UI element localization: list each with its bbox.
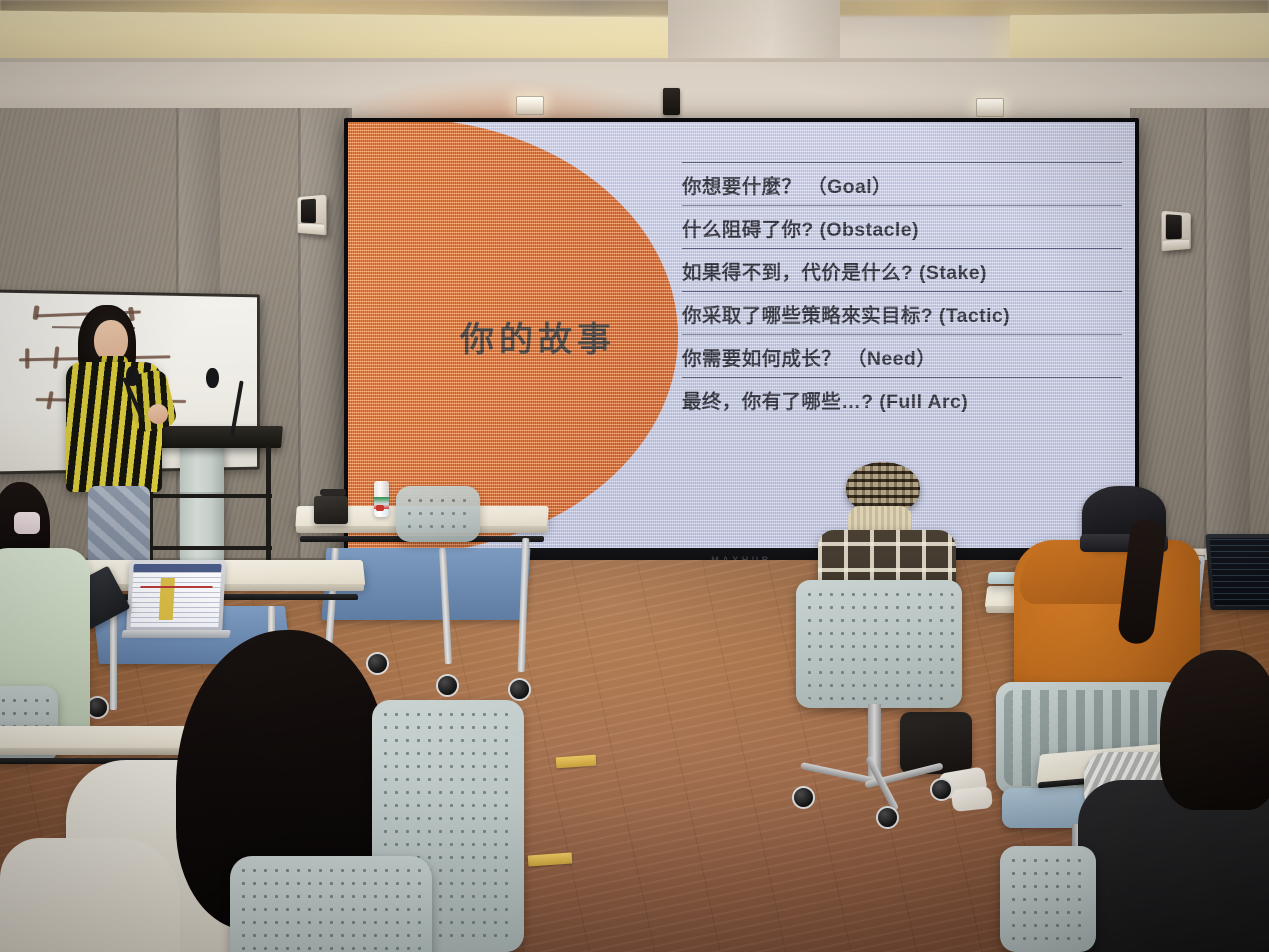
document-camera[interactable] [314,496,348,524]
chair-caster [876,806,899,829]
whiteboard-writing [33,305,40,320]
slide-bullet-text: 什么阻碍了你? (Obstacle) [682,213,1122,242]
downlight-right [976,98,1004,117]
table-small-object [376,505,384,511]
slide-bullet-row: 你需要如何成长？ （Need） [682,334,1122,377]
face-mask [14,512,40,534]
slide-bullet-text: 最终，你有了哪些…? (Full Arc) [682,385,1122,414]
chair-backrest [396,486,480,542]
podium-microphone-head-icon [206,368,219,388]
podium-crossbar [148,494,272,498]
presenter-legs [88,486,150,570]
soffit-orange-reflection [330,78,670,122]
speaker-base [298,223,324,235]
table-caster [366,652,389,675]
chair-mesh [404,494,472,534]
slide-bullet-text: 你采取了哪些策略來实目标? (Tactic) [682,299,1122,328]
chair-backrest [796,580,962,708]
chair-caster [930,778,953,801]
slide-bullet-list: 你想要什麼？ （Goal） 什么阻碍了你? (Obstacle) 如果得不到，代… [682,162,1122,420]
student-hair [1160,650,1269,810]
speaker-grille-icon [1166,214,1182,239]
slide-title: 你的故事 [408,312,668,361]
slide-bullet-row: 你采取了哪些策略來实目标? (Tactic) [682,291,1122,334]
presenter-hand [148,404,168,424]
document-camera-arm [320,489,346,496]
water-bottle[interactable] [374,481,389,517]
chair-mesh [804,588,954,700]
ceiling-sensor-icon [663,88,680,115]
spreadsheet-header [133,564,221,572]
chair-backrest-bottom-right[interactable] [1000,846,1096,952]
table-caster [508,678,531,701]
wall-speaker-right [1162,211,1191,251]
downlight-left [516,96,544,115]
laptop-spreadsheet-screen [130,564,221,628]
slide-bullet-text: 你想要什麼？ （Goal） [682,170,1122,199]
speaker-grille-icon [301,199,316,224]
spreadsheet-highlight-column [159,578,175,620]
whiteboard-writing [25,348,29,368]
slide-bullet-row: 最终，你有了哪些…? (Full Arc) [682,377,1122,420]
laptop-right-dark-lid[interactable] [1205,534,1269,610]
microphone-head-icon [126,366,139,386]
laptop-spreadsheet-lid[interactable] [126,560,226,632]
laptop-right-dark-screen [1210,538,1269,606]
laptop-spreadsheet-base[interactable] [121,630,231,638]
student-arm [0,838,180,952]
podium-crossbar [148,546,272,550]
chair-backrest [230,856,432,952]
speaker-base [1163,239,1189,250]
chair-mesh [1008,854,1088,944]
table-leg [110,606,117,710]
classroom-scene: 你的故事 你想要什麼？ （Goal） 什么阻碍了你? (Obstacle) 如果… [0,0,1269,952]
slide-bullet-row: 什么阻碍了你? (Obstacle) [682,205,1122,248]
shoe [951,786,993,812]
spreadsheet-rows [130,564,221,628]
slide-bullet-text: 你需要如何成长？ （Need） [682,342,1122,371]
wall-speaker-left [298,195,327,236]
table-caster [436,674,459,697]
slide-bullet-row: 你想要什麼？ （Goal） [682,162,1122,205]
laptop-dark-content [1210,538,1269,606]
spreadsheet-marker-line [140,586,212,588]
led-display-screen[interactable]: 你的故事 你想要什麼？ （Goal） 什么阻碍了你? (Obstacle) 如果… [348,122,1135,548]
chair-caster [792,786,815,809]
slide-bullet-row: 如果得不到，代价是什么? (Stake) [682,248,1122,291]
slide-bullet-text: 如果得不到，代价是什么? (Stake) [682,256,1122,285]
chair-mesh [238,864,424,952]
